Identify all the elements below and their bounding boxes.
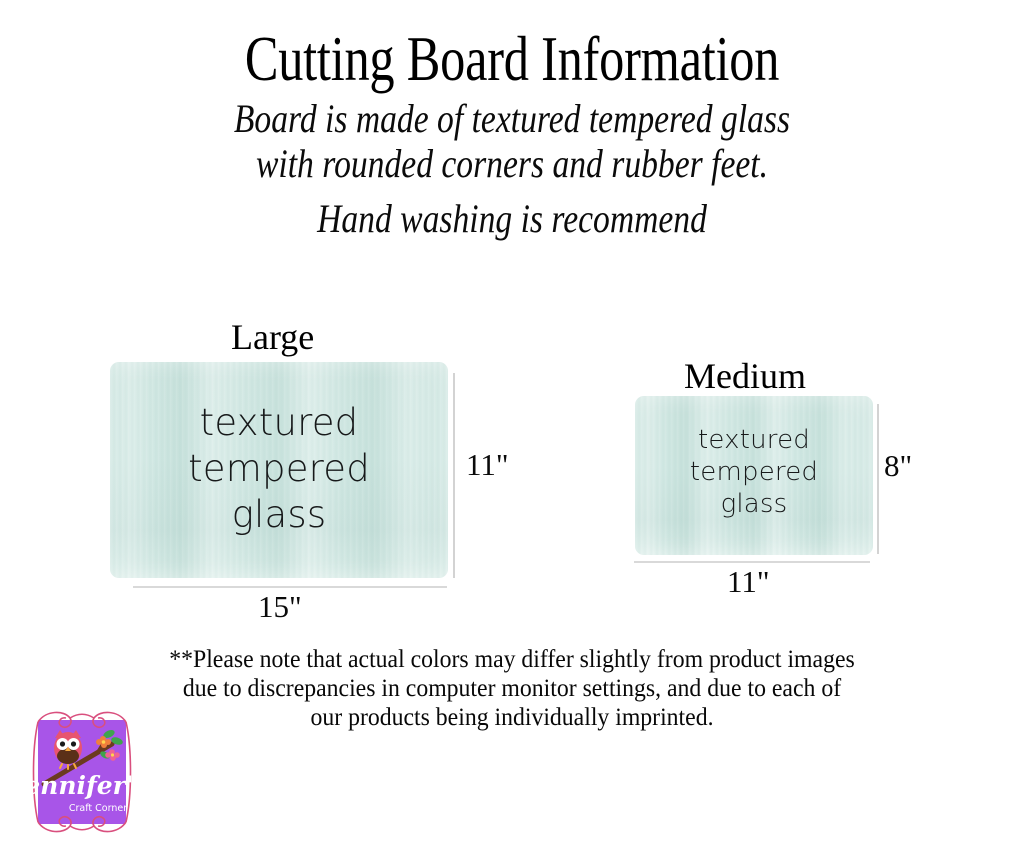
dimension-rule-large-height: [453, 373, 455, 578]
board-medium-text-line-1: textured: [635, 424, 873, 456]
board-large-text-line-2: tempered: [110, 446, 448, 492]
subtitle-line-3: Hand washing is recommend: [82, 196, 942, 241]
disclaimer-line-2: due to discrepancies in computer monitor…: [26, 674, 999, 703]
page-subtitle: Board is made of textured tempered glass…: [82, 96, 942, 241]
disclaimer-line-3: our products being individually imprinte…: [26, 703, 999, 732]
brand-logo: Jennifer's Craft Corner: [24, 708, 140, 836]
disclaimer-block: **Please note that actual colors may dif…: [26, 645, 999, 732]
size-label-large: Large: [231, 318, 314, 356]
logo-brand-text: Jennifer's: [24, 771, 140, 800]
dimension-rule-large-width: [133, 586, 447, 588]
size-label-medium: Medium: [684, 357, 806, 395]
dimension-rule-medium-width: [634, 561, 870, 563]
board-medium-imprint-text: textured tempered glass: [635, 424, 873, 520]
board-medium-text-line-3: glass: [635, 488, 873, 520]
page-title: Cutting Board Information: [102, 26, 921, 92]
cutting-board-medium: textured tempered glass: [635, 396, 873, 555]
dimension-rule-medium-height: [877, 404, 879, 554]
dimension-medium-height: 8": [884, 449, 912, 482]
dimension-large-height: 11": [466, 448, 509, 481]
subtitle-line-2: with rounded corners and rubber feet.: [82, 141, 942, 186]
board-medium-text-line-2: tempered: [635, 456, 873, 488]
board-large-imprint-text: textured tempered glass: [110, 400, 448, 538]
dimension-large-width: 15": [258, 590, 302, 623]
board-large-text-line-3: glass: [110, 492, 448, 538]
dimension-medium-width: 11": [727, 565, 770, 598]
subtitle-line-1: Board is made of textured tempered glass: [82, 96, 942, 141]
header-block: Cutting Board Information Board is made …: [0, 26, 1024, 241]
disclaimer-line-1: **Please note that actual colors may dif…: [26, 645, 999, 674]
logo-tagline-text: Craft Corner: [69, 803, 127, 814]
board-large-text-line-1: textured: [110, 400, 448, 446]
cutting-board-large: textured tempered glass: [110, 362, 448, 578]
